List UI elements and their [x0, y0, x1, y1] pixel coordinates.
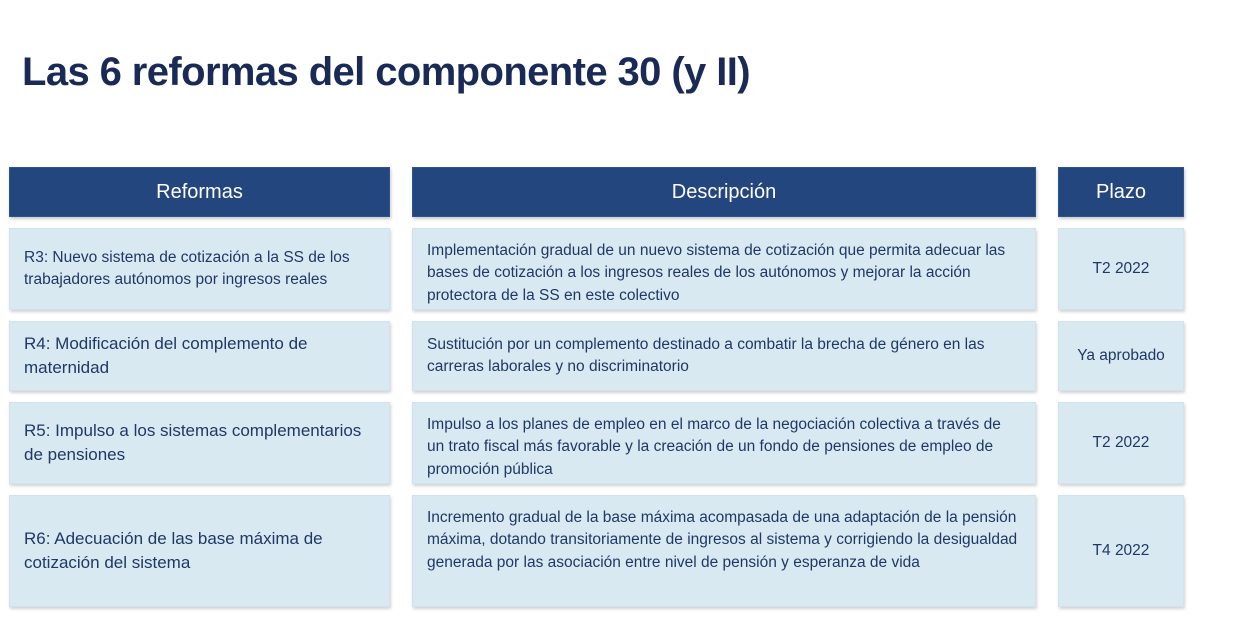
reforma-text: R5: Impulso a los sistemas complementari…: [24, 419, 375, 467]
cell-descripcion: Implementación gradual de un nuevo siste…: [412, 228, 1036, 310]
column-header-reformas-label: Reformas: [156, 181, 243, 204]
column-header-plazo: Plazo: [1058, 167, 1184, 217]
descripcion-text: Incremento gradual de la base máxima aco…: [427, 507, 1021, 574]
cell-plazo: T2 2022: [1058, 228, 1184, 310]
descripcion-text: Implementación gradual de un nuevo siste…: [427, 240, 1021, 307]
cell-reforma: R5: Impulso a los sistemas complementari…: [9, 402, 390, 484]
cell-reforma: R6: Adecuación de las base máxima de cot…: [9, 495, 390, 607]
table-row: R4: Modificación del complemento de mate…: [9, 321, 1173, 391]
descripcion-text: Impulso a los planes de empleo en el mar…: [427, 414, 1021, 481]
table-row: R5: Impulso a los sistemas complementari…: [9, 402, 1173, 484]
column-header-plazo-label: Plazo: [1096, 181, 1146, 204]
cell-plazo: Ya aprobado: [1058, 321, 1184, 391]
page-title: Las 6 reformas del componente 30 (y II): [22, 49, 750, 95]
reforma-text: R3: Nuevo sistema de cotización a la SS …: [24, 247, 375, 291]
plazo-text: T4 2022: [1093, 542, 1150, 560]
table-row: R6: Adecuación de las base máxima de cot…: [9, 495, 1173, 607]
plazo-text: Ya aprobado: [1077, 347, 1165, 365]
descripcion-text: Sustitución por un complemento destinado…: [427, 334, 1021, 379]
slide-canvas: Las 6 reformas del componente 30 (y II) …: [0, 0, 1242, 621]
reforma-text: R4: Modificación del complemento de mate…: [24, 332, 375, 380]
reforma-text: R6: Adecuación de las base máxima de cot…: [24, 527, 375, 575]
cell-plazo: T4 2022: [1058, 495, 1184, 607]
cell-descripcion: Impulso a los planes de empleo en el mar…: [412, 402, 1036, 484]
plazo-text: T2 2022: [1093, 260, 1150, 278]
cell-reforma: R3: Nuevo sistema de cotización a la SS …: [9, 228, 390, 310]
column-header-descripcion-label: Descripción: [672, 181, 776, 204]
column-header-descripcion: Descripción: [412, 167, 1036, 217]
table-header-row: Reformas Descripción Plazo: [9, 167, 1173, 217]
cell-plazo: T2 2022: [1058, 402, 1184, 484]
plazo-text: T2 2022: [1093, 434, 1150, 452]
cell-reforma: R4: Modificación del complemento de mate…: [9, 321, 390, 391]
column-header-reformas: Reformas: [9, 167, 390, 217]
reforms-table: Reformas Descripción Plazo R3: Nuevo sis…: [9, 167, 1173, 607]
table-row: R3: Nuevo sistema de cotización a la SS …: [9, 228, 1173, 310]
cell-descripcion: Sustitución por un complemento destinado…: [412, 321, 1036, 391]
cell-descripcion: Incremento gradual de la base máxima aco…: [412, 495, 1036, 607]
